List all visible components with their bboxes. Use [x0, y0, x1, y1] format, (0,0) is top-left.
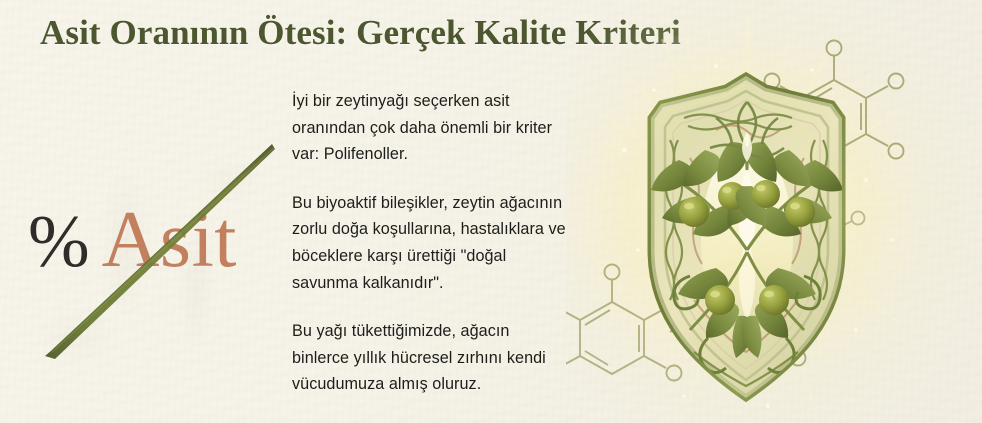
- infographic-banner: Asit Oranının Ötesi: Gerçek Kalite Krite…: [0, 0, 982, 423]
- acid-percent-badge: % Asit: [22, 138, 294, 380]
- paragraph-3: Bu yağı tükettiğimizde, ağacın binlerce …: [292, 318, 570, 398]
- paragraph-1: İyi bir zeytinyağı seçerken asit oranınd…: [292, 88, 570, 168]
- acid-label: Asit: [102, 200, 237, 280]
- paragraph-2: Bu biyoaktif bileşikler, zeytin ağacının…: [292, 190, 570, 296]
- olive-shield-illustration: [566, 0, 982, 423]
- percent-symbol: %: [28, 205, 90, 279]
- body-copy: İyi bir zeytinyağı seçerken asit oranınd…: [292, 88, 570, 398]
- shield-artwork-panel: [566, 0, 982, 423]
- acid-badge-wordmark: % Asit: [28, 200, 294, 280]
